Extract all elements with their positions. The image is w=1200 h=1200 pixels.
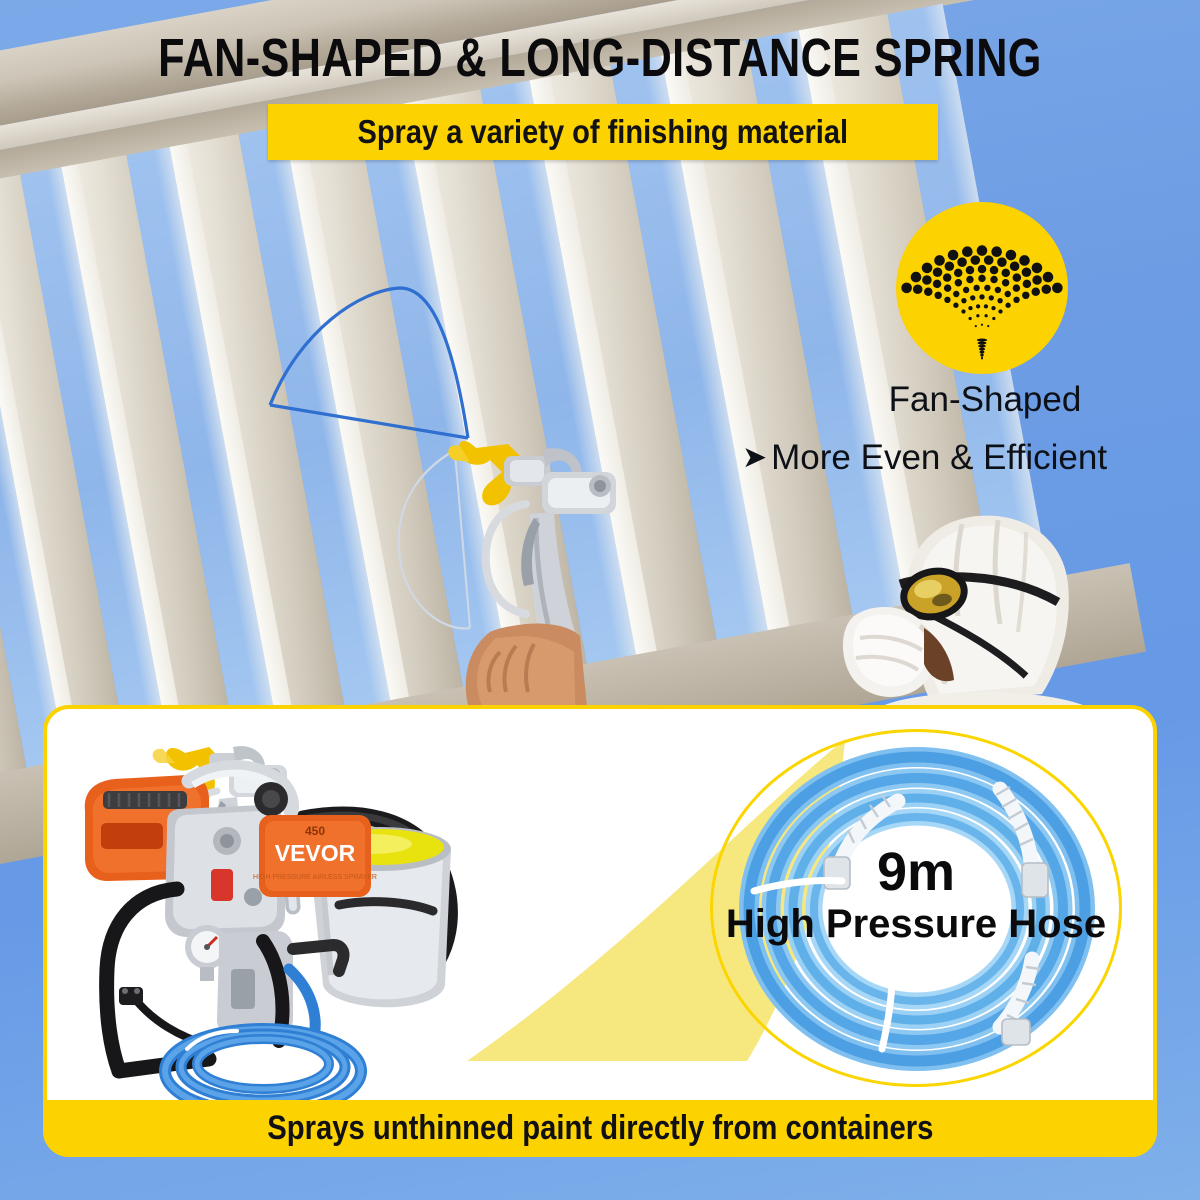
subtitle-text: Spray a variety of finishing material (358, 113, 849, 151)
page-headline: FAN-SHAPED & LONG-DISTANCE SPRING (120, 28, 1080, 88)
vevor-brand-badge: VEVOR 450 HIGH PRESSURE AIRLESS SPRAYER (253, 815, 377, 897)
more-even-efficient-label: More Even & Efficient (771, 438, 1107, 478)
fan-shaped-label: Fan-Shaped (790, 380, 1180, 420)
vevor-model-text: 450 (305, 824, 325, 838)
bottom-caption-text: Sprays unthinned paint directly from con… (267, 1109, 933, 1148)
more-even-efficient-row: ➤ More Even & Efficient (742, 438, 1200, 478)
subtitle-banner: Spray a variety of finishing material (268, 104, 938, 160)
svg-text:HIGH PRESSURE AIRLESS SPRAYER: HIGH PRESSURE AIRLESS SPRAYER (253, 874, 377, 881)
fan-shaped-badge (896, 202, 1068, 374)
bottom-caption-bar: Sprays unthinned paint directly from con… (43, 1100, 1157, 1157)
arrow-right-icon: ➤ (742, 443, 767, 473)
vevor-brand-text: VEVOR (275, 840, 356, 866)
high-pressure-hose-illustration: 9m High Pressure Hose (702, 723, 1132, 1095)
coiled-blue-hose-icon (702, 723, 1132, 1095)
product-marketing-image: FAN-SHAPED & LONG-DISTANCE SPRING Spray … (0, 0, 1200, 1200)
product-panel: 9m High Pressure Hose (43, 705, 1157, 1157)
airless-paint-sprayer-machine: VEVOR 450 HIGH PRESSURE AIRLESS SPRAYER (67, 719, 527, 1119)
fan-spray-pattern-icon (896, 202, 1068, 374)
